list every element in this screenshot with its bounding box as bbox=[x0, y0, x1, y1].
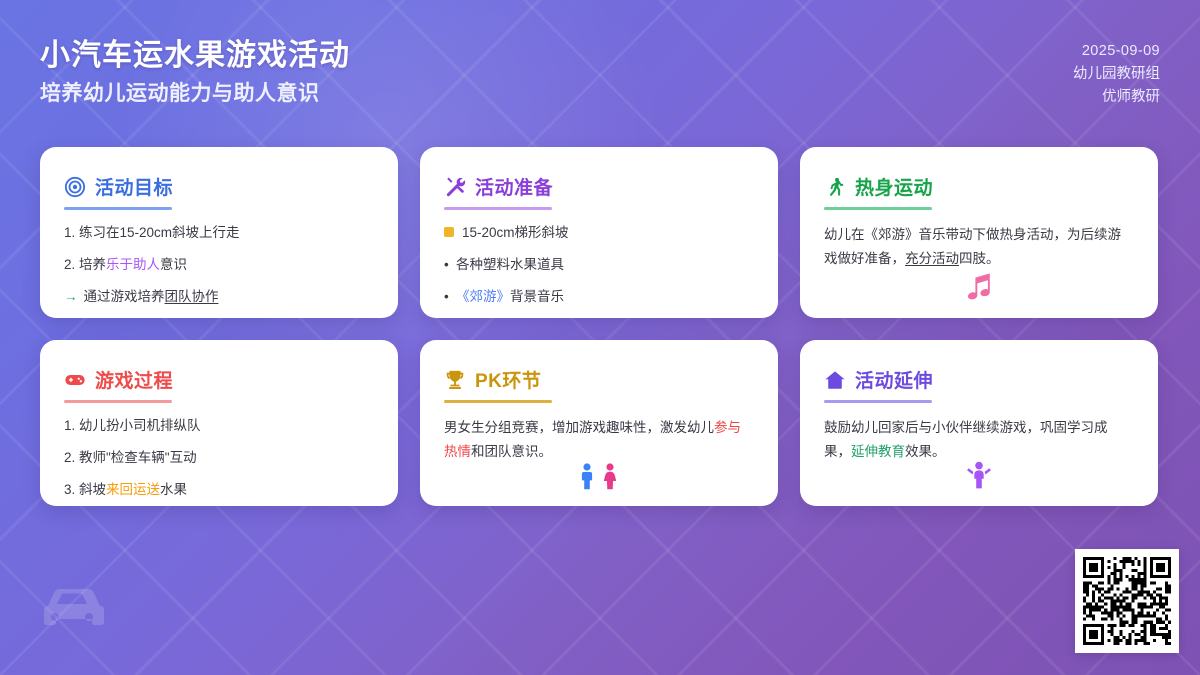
car-icon bbox=[36, 580, 108, 637]
card-title: PK环节 bbox=[475, 366, 541, 393]
card-title-underline bbox=[64, 400, 172, 403]
list-item: •各种塑料水果道具 bbox=[444, 255, 754, 275]
card-header: 活动延伸 bbox=[824, 366, 1134, 393]
slide-canvas: 小汽车运水果游戏活动 培养幼儿运动能力与助人意识 2025-09-09 幼儿园教… bbox=[0, 0, 1200, 675]
page-title: 小汽车运水果游戏活动 bbox=[40, 36, 350, 76]
header-title-block: 小汽车运水果游戏活动 培养幼儿运动能力与助人意识 bbox=[40, 36, 350, 110]
text-fragment: 15-20cm梯形斜坡 bbox=[462, 225, 569, 240]
list-item: •《郊游》背景音乐 bbox=[444, 287, 754, 307]
gamepad-icon bbox=[64, 369, 86, 391]
text-fragment: 意识 bbox=[160, 257, 187, 272]
text-fragment: 延伸教育 bbox=[851, 444, 905, 459]
card-game-process[interactable]: 游戏过程1. 幼儿扮小司机排纵队2. 教师"检查车辆"互动3. 斜坡来回运送水果 bbox=[40, 340, 398, 506]
card-activity-extension[interactable]: 活动延伸鼓励幼儿回家后与小伙伴继续游戏，巩固学习成果，延伸教育效果。 bbox=[800, 340, 1158, 506]
card-paragraph: 男女生分组竞赛，增加游戏趣味性，激发幼儿参与热情和团队意识。 bbox=[444, 416, 754, 464]
card-title: 活动延伸 bbox=[855, 366, 933, 393]
card-header: 热身运动 bbox=[824, 173, 1134, 200]
list-index: 1. bbox=[64, 225, 79, 240]
text-fragment: 来回运送 bbox=[106, 482, 160, 497]
text-fragment: 背景音乐 bbox=[510, 289, 564, 304]
trophy-icon bbox=[444, 369, 466, 391]
card-body: 1. 幼儿扮小司机排纵队2. 教师"检查车辆"互动3. 斜坡来回运送水果 bbox=[64, 416, 374, 500]
card-warm-up[interactable]: 热身运动幼儿在《郊游》音乐带动下做热身活动，为后续游戏做好准备，充分活动四肢。 bbox=[800, 147, 1158, 318]
list-item: →通过游戏培养团队协作 bbox=[64, 287, 374, 307]
list-item: 1. 幼儿扮小司机排纵队 bbox=[64, 416, 374, 436]
text-fragment: 斜坡 bbox=[79, 482, 106, 497]
qr-code[interactable] bbox=[1075, 549, 1179, 653]
text-fragment: 男女生分组竞赛，增加游戏趣味性，激发幼儿 bbox=[444, 420, 714, 435]
list-item: 1. 练习在15-20cm斜坡上行走 bbox=[64, 223, 374, 243]
card-header: 活动目标 bbox=[64, 173, 374, 200]
text-fragment: 《郊游》 bbox=[456, 289, 510, 304]
text-fragment: 通过游戏培养 bbox=[84, 289, 165, 304]
slide-header: 小汽车运水果游戏活动 培养幼儿运动能力与助人意识 2025-09-09 幼儿园教… bbox=[0, 0, 1200, 140]
male-female-icon bbox=[420, 462, 778, 490]
card-title-underline bbox=[444, 400, 552, 403]
card-body: 1. 练习在15-20cm斜坡上行走2. 培养乐于助人意识→通过游戏培养团队协作 bbox=[64, 223, 374, 307]
text-fragment: 四肢。 bbox=[959, 251, 1000, 266]
text-fragment: 充分活动 bbox=[905, 251, 959, 266]
header-date: 2025-09-09 bbox=[1073, 40, 1160, 63]
card-title-underline bbox=[64, 207, 172, 210]
music-note-icon bbox=[800, 272, 1158, 302]
list-index: 2. bbox=[64, 257, 79, 272]
header-org: 幼儿园教研组 bbox=[1073, 63, 1160, 86]
text-fragment: 幼儿扮小司机排纵队 bbox=[79, 418, 201, 433]
card-pk-round[interactable]: PK环节男女生分组竞赛，增加游戏趣味性，激发幼儿参与热情和团队意识。 bbox=[420, 340, 778, 506]
dot-bullet-icon: • bbox=[444, 287, 456, 307]
text-fragment: 练习在15-20cm斜坡上行走 bbox=[79, 225, 240, 240]
card-activity-goal[interactable]: 活动目标1. 练习在15-20cm斜坡上行走2. 培养乐于助人意识→通过游戏培养… bbox=[40, 147, 398, 318]
arrow-icon: → bbox=[64, 289, 78, 304]
card-activity-preparation[interactable]: 活动准备15-20cm梯形斜坡•各种塑料水果道具•《郊游》背景音乐 bbox=[420, 147, 778, 318]
card-paragraph: 幼儿在《郊游》音乐带动下做热身活动，为后续游戏做好准备，充分活动四肢。 bbox=[824, 223, 1134, 271]
target-icon bbox=[64, 176, 86, 198]
card-header: 游戏过程 bbox=[64, 366, 374, 393]
header-brand: 优师教研 bbox=[1073, 86, 1160, 109]
dot-bullet-icon: • bbox=[444, 255, 456, 275]
card-paragraph: 鼓励幼儿回家后与小伙伴继续游戏，巩固学习成果，延伸教育效果。 bbox=[824, 416, 1134, 464]
text-fragment: 教师"检查车辆"互动 bbox=[79, 450, 197, 465]
square-bullet-icon bbox=[444, 227, 454, 237]
card-title-underline bbox=[824, 400, 932, 403]
card-title: 活动准备 bbox=[475, 173, 553, 200]
card-title: 热身运动 bbox=[855, 173, 933, 200]
text-fragment: 效果。 bbox=[905, 444, 946, 459]
text-fragment: 团队协作 bbox=[165, 289, 219, 304]
running-icon bbox=[824, 176, 846, 198]
card-body: 男女生分组竞赛，增加游戏趣味性，激发幼儿参与热情和团队意识。 bbox=[444, 416, 754, 464]
tools-icon bbox=[444, 176, 466, 198]
card-title-underline bbox=[824, 207, 932, 210]
list-index: 2. bbox=[64, 450, 79, 465]
text-fragment: 水果 bbox=[160, 482, 187, 497]
list-item: 2. 教师"检查车辆"互动 bbox=[64, 448, 374, 468]
text-fragment: 各种塑料水果道具 bbox=[456, 257, 564, 272]
text-fragment: 培养 bbox=[79, 257, 106, 272]
list-item: 2. 培养乐于助人意识 bbox=[64, 255, 374, 275]
card-body: 15-20cm梯形斜坡•各种塑料水果道具•《郊游》背景音乐 bbox=[444, 223, 754, 307]
list-index: 3. bbox=[64, 482, 79, 497]
card-body: 鼓励幼儿回家后与小伙伴继续游戏，巩固学习成果，延伸教育效果。 bbox=[824, 416, 1134, 464]
card-title: 活动目标 bbox=[95, 173, 173, 200]
header-meta-block: 2025-09-09 幼儿园教研组 优师教研 bbox=[1073, 40, 1160, 109]
card-body: 幼儿在《郊游》音乐带动下做热身活动，为后续游戏做好准备，充分活动四肢。 bbox=[824, 223, 1134, 271]
text-fragment: 乐于助人 bbox=[106, 257, 160, 272]
list-item: 15-20cm梯形斜坡 bbox=[444, 223, 754, 243]
qr-code-image bbox=[1083, 557, 1171, 645]
page-subtitle: 培养幼儿运动能力与助人意识 bbox=[40, 78, 350, 110]
text-fragment: 和团队意识。 bbox=[471, 444, 552, 459]
card-title: 游戏过程 bbox=[95, 366, 173, 393]
list-item: 3. 斜坡来回运送水果 bbox=[64, 480, 374, 500]
card-title-underline bbox=[444, 207, 552, 210]
card-grid: 活动目标1. 练习在15-20cm斜坡上行走2. 培养乐于助人意识→通过游戏培养… bbox=[40, 147, 1160, 506]
child-icon bbox=[800, 460, 1158, 490]
home-icon bbox=[824, 369, 846, 391]
list-index: 1. bbox=[64, 418, 79, 433]
card-header: 活动准备 bbox=[444, 173, 754, 200]
card-header: PK环节 bbox=[444, 366, 754, 393]
